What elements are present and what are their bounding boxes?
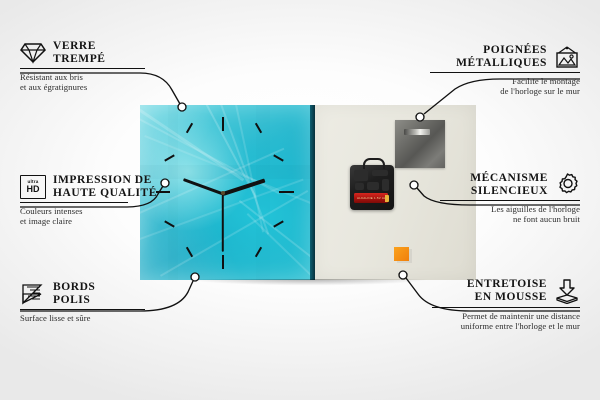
- foam-spacer-icon: [554, 278, 580, 304]
- feature-divider: [20, 202, 128, 203]
- feature-divider: [440, 200, 580, 201]
- picture-hanger-icon: [554, 45, 580, 69]
- feature-title: IMPRESSION DE HAUTE QUALITÉ: [53, 174, 157, 199]
- feature-divider: [20, 68, 145, 69]
- feature-bords-polis[interactable]: BORDS POLIS Surface lisse et sûre: [20, 281, 170, 323]
- product-shadow: [142, 279, 476, 288]
- hanger-slot: [404, 129, 430, 135]
- infographic-canvas: ALKALINE 1.5V AA: [0, 0, 600, 400]
- feature-title: ENTRETOISE EN MOUSSE: [467, 278, 547, 303]
- battery: ALKALINE 1.5V AA: [354, 193, 388, 203]
- feature-divider: [430, 72, 580, 73]
- feature-subtitle: Résistant aux bris et aux égratignures: [20, 72, 170, 92]
- diamond-icon: [20, 42, 46, 64]
- mechanism-hook: [363, 158, 385, 169]
- metal-hanger-plate: [395, 120, 445, 168]
- feature-title: MÉCANISME SILENCIEUX: [470, 172, 548, 197]
- feature-mecanisme-silencieux[interactable]: MÉCANISME SILENCIEUX Les aiguilles de l'…: [440, 172, 580, 224]
- feature-subtitle: Couleurs intenses et image claire: [20, 206, 185, 226]
- clock-tick: [186, 123, 193, 134]
- clock-tick: [186, 247, 193, 258]
- polished-edges-icon: [20, 283, 46, 305]
- feature-header: POIGNÉES MÉTALLIQUES: [430, 44, 580, 69]
- feature-title: POIGNÉES MÉTALLIQUES: [456, 44, 547, 69]
- feature-subtitle: Surface lisse et sûre: [20, 313, 170, 323]
- clock-tick: [273, 154, 284, 161]
- clock-mechanism-box: ALKALINE 1.5V AA: [350, 165, 394, 210]
- feature-verre-trempe[interactable]: VERRE TREMPÉ Résistant aux bris et aux é…: [20, 40, 170, 92]
- feature-divider: [20, 309, 145, 310]
- feature-title: BORDS POLIS: [53, 281, 95, 306]
- clock-hand-second: [222, 194, 224, 252]
- clock-tick: [222, 255, 224, 269]
- feature-header: ENTRETOISE EN MOUSSE: [432, 278, 580, 304]
- product-illustration: ALKALINE 1.5V AA: [140, 105, 476, 280]
- feature-poignees-metalliques[interactable]: POIGNÉES MÉTALLIQUES Facilite le montage…: [430, 44, 580, 96]
- feature-header: BORDS POLIS: [20, 281, 170, 306]
- feature-impression-haute-qualite[interactable]: ultra HD IMPRESSION DE HAUTE QUALITÉ Cou…: [20, 174, 185, 226]
- feature-entretoise-en-mousse[interactable]: ENTRETOISE EN MOUSSE Permet de maintenir…: [432, 278, 580, 331]
- foam-spacer: [394, 247, 409, 261]
- ultra-hd-icon: ultra HD: [20, 175, 46, 199]
- clock-tick: [279, 191, 294, 193]
- gear-icon: [555, 172, 580, 197]
- clock-tick: [273, 220, 284, 227]
- clock-tick: [222, 117, 224, 131]
- battery-terminal: [385, 195, 389, 202]
- battery-label: ALKALINE 1.5V AA: [357, 196, 386, 200]
- feature-divider: [432, 307, 580, 308]
- clock-hand-minute: [183, 178, 224, 196]
- clock-hand-hub: [221, 191, 225, 195]
- feature-subtitle: Permet de maintenir une distance uniform…: [432, 311, 580, 331]
- feature-title: VERRE TREMPÉ: [53, 40, 106, 65]
- feature-subtitle: Les aiguilles de l'horloge ne font aucun…: [440, 204, 580, 224]
- feature-header: VERRE TREMPÉ: [20, 40, 170, 65]
- feature-subtitle: Facilite le montage de l'horloge sur le …: [430, 76, 580, 96]
- feature-header: ultra HD IMPRESSION DE HAUTE QUALITÉ: [20, 174, 185, 199]
- feature-header: MÉCANISME SILENCIEUX: [440, 172, 580, 197]
